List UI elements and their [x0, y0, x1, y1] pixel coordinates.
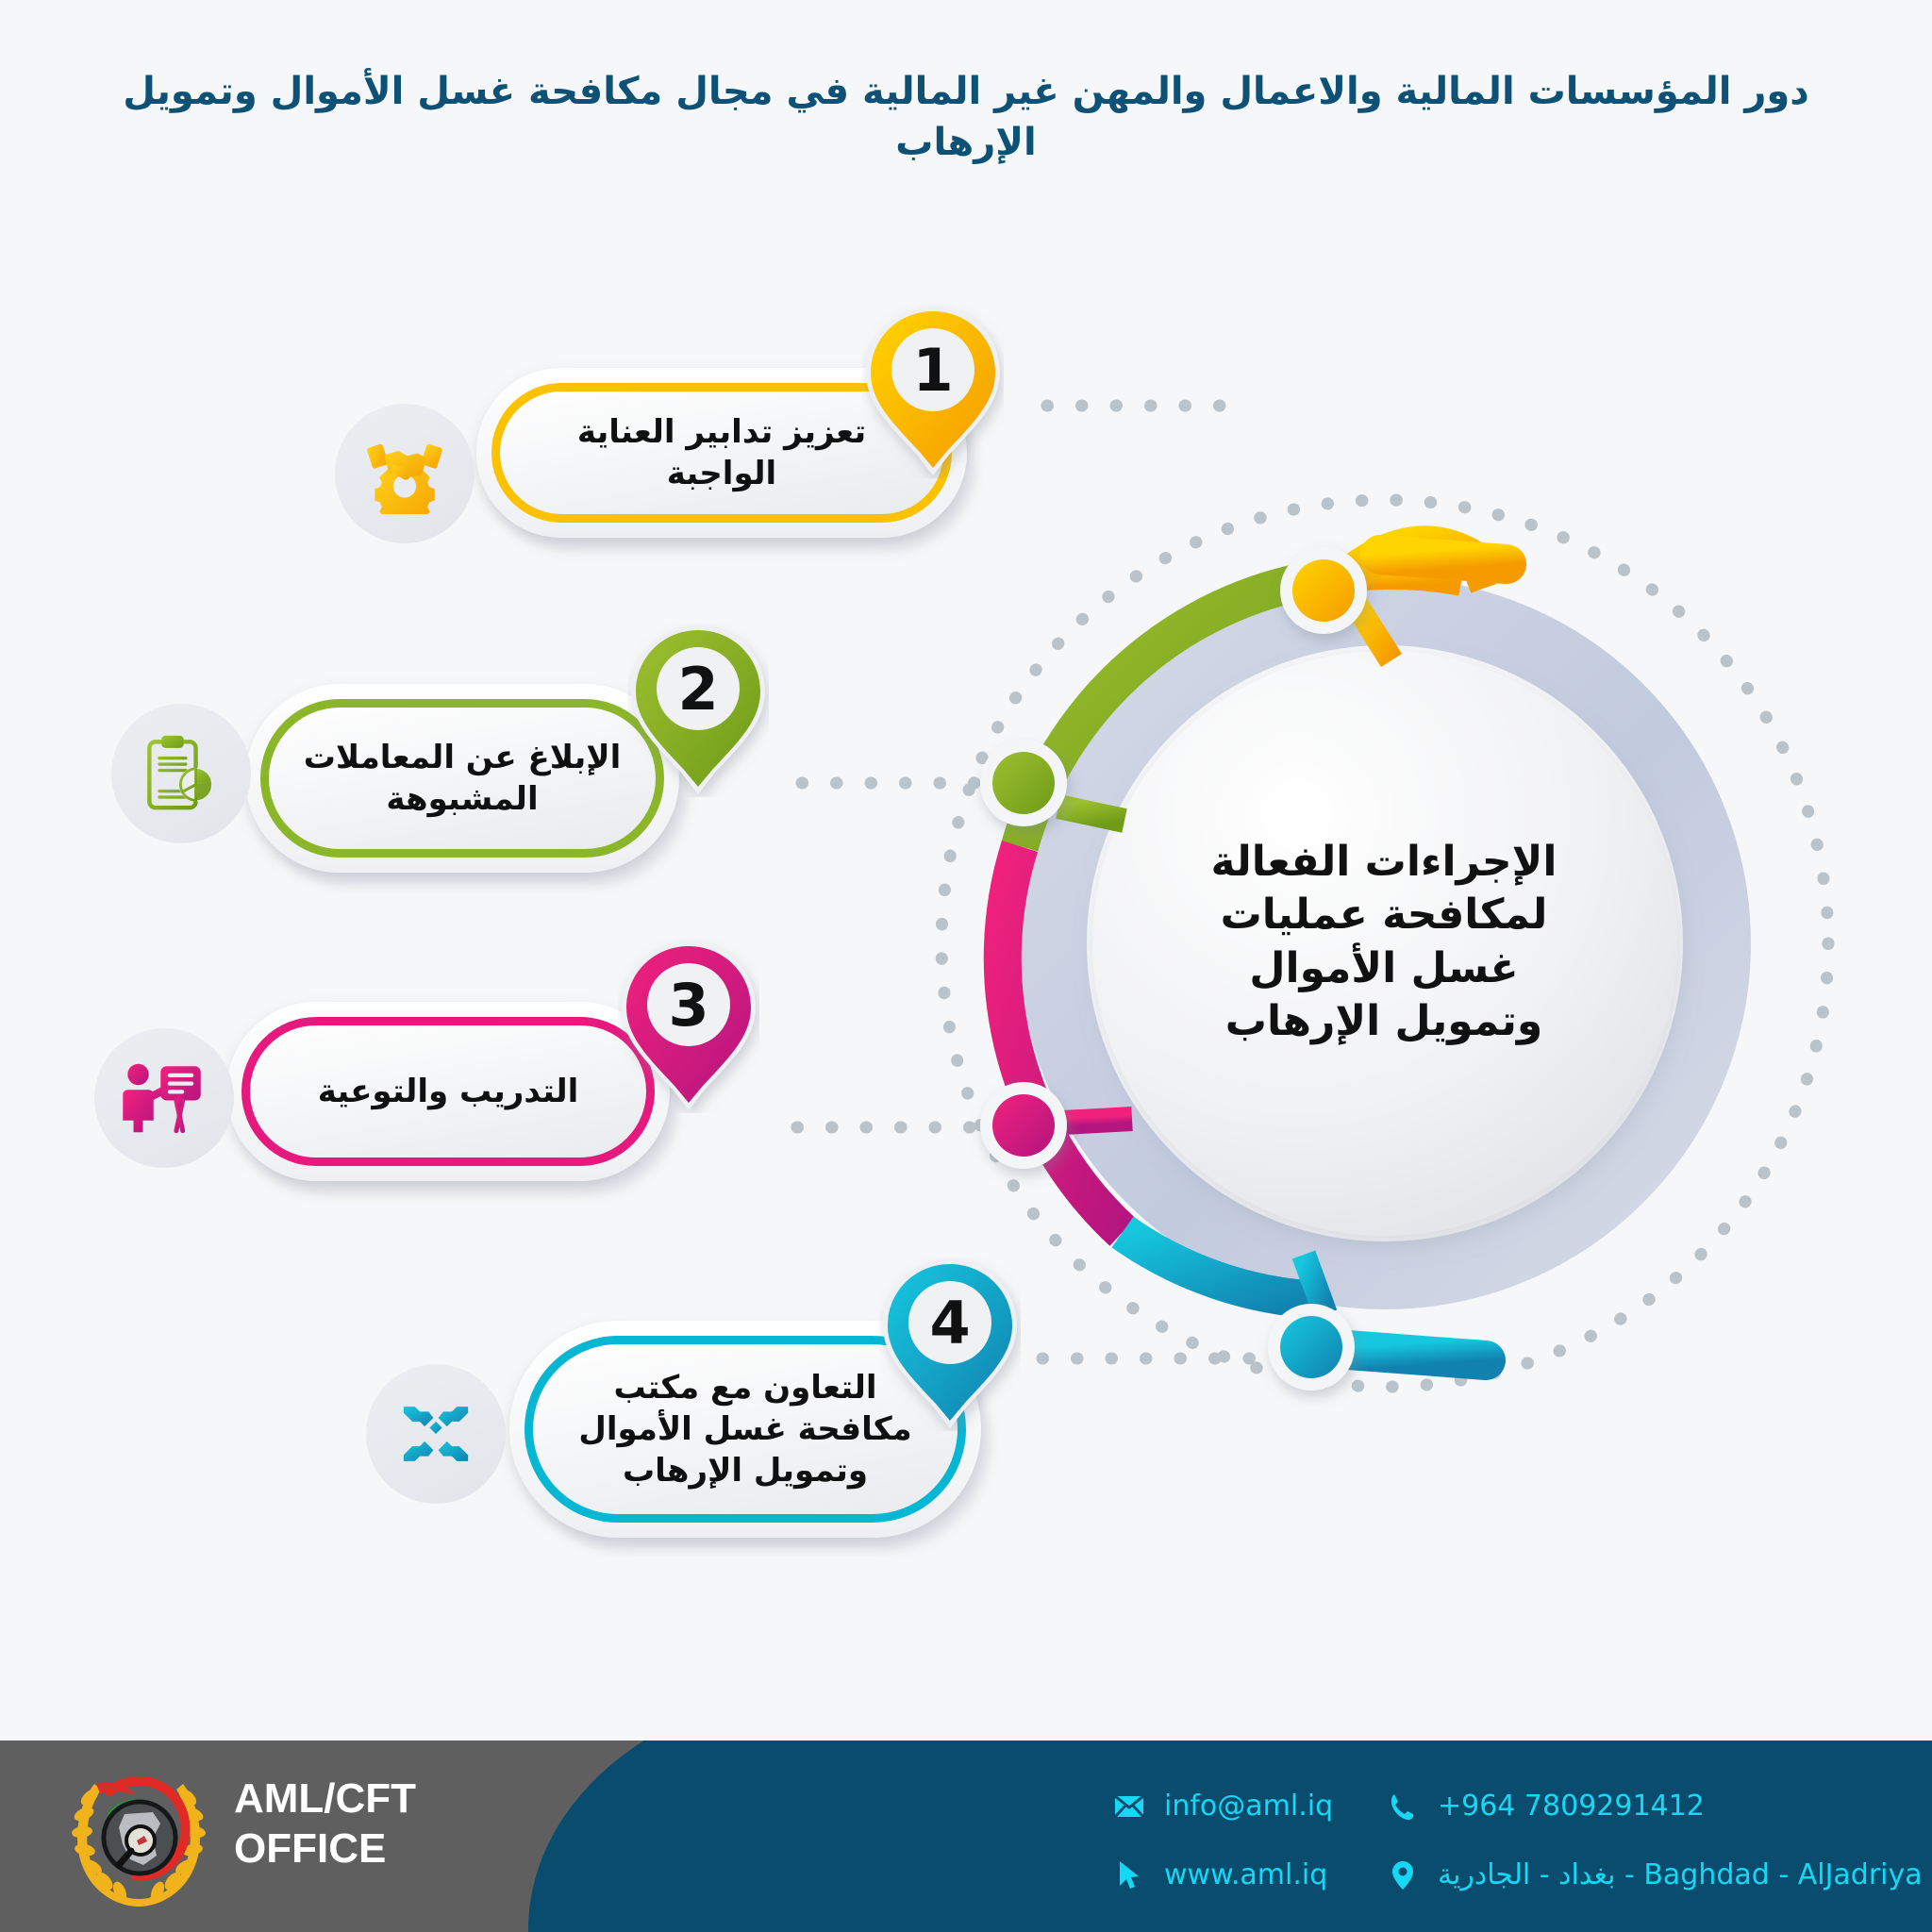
email-icon	[1113, 1790, 1145, 1823]
card-inner: الإبلاغ عن المعاملات المشبوهة	[260, 699, 664, 858]
step-badge-2-number: 2	[627, 640, 769, 738]
step-card-2-label: الإبلاغ عن المعاملات المشبوهة	[272, 737, 653, 820]
step-card-3-label: التدريب والتوعية	[286, 1071, 611, 1112]
contact-website-text: www.aml.iq	[1164, 1858, 1327, 1891]
step-badge-2[interactable]: 2	[627, 623, 769, 797]
step-icon-3	[94, 1028, 234, 1168]
contact-email[interactable]: info@aml.iq	[1113, 1790, 1333, 1823]
handshake-gear-icon	[364, 433, 445, 514]
contact-email-text: info@aml.iq	[1164, 1790, 1333, 1823]
ring-node-1	[1280, 547, 1367, 634]
step-badge-3[interactable]: 3	[618, 939, 759, 1113]
process-ring-graphic	[0, 0, 1932, 1932]
footer-right-panel	[528, 1740, 1932, 1932]
collaboration-hands-icon	[396, 1394, 475, 1474]
infographic-canvas: دور المؤسسات المالية والاعمال والمهن غير…	[0, 0, 1932, 1932]
step-icon-1	[335, 404, 475, 543]
clipboard-report-icon	[142, 732, 221, 815]
step-badge-4[interactable]: 4	[879, 1257, 1021, 1431]
contact-address[interactable]: Baghdad - AlJadriya - بغداد - الجادرية	[1387, 1858, 1923, 1891]
step-card-2[interactable]: الإبلاغ عن المعاملات المشبوهة	[245, 684, 679, 873]
location-icon	[1387, 1859, 1419, 1891]
contact-address-text: Baghdad - AlJadriya - بغداد - الجادرية	[1438, 1858, 1923, 1891]
contact-website[interactable]: www.aml.iq	[1113, 1858, 1327, 1891]
step-badge-4-number: 4	[879, 1274, 1021, 1372]
step-icon-2	[111, 704, 251, 843]
ring-node-2	[980, 740, 1067, 826]
center-headline: الإجراءات الفعالة لمكافحة عمليات غسل الأ…	[1162, 836, 1606, 1048]
ring-node-4	[1268, 1304, 1355, 1391]
footer-brand: AML/CFT OFFICE	[234, 1774, 517, 1874]
training-presenter-icon	[123, 1060, 206, 1136]
ring-node-3	[980, 1082, 1067, 1169]
cursor-icon	[1113, 1859, 1145, 1891]
aml-cft-office-logo	[58, 1757, 219, 1918]
step-badge-1-number: 1	[862, 321, 1004, 419]
step-badge-3-number: 3	[618, 956, 759, 1054]
card-inner: التدريب والتوعية	[241, 1017, 655, 1166]
contact-phone[interactable]: +964 7809291412	[1387, 1790, 1705, 1823]
step-badge-1[interactable]: 1	[862, 304, 1004, 478]
footer-bar: AML/CFT OFFICE info@aml.iq +964 78092914…	[0, 1740, 1932, 1932]
contact-phone-text: +964 7809291412	[1438, 1790, 1705, 1823]
step-icon-4	[366, 1364, 506, 1504]
phone-icon	[1387, 1790, 1419, 1823]
step-card-3[interactable]: التدريب والتوعية	[226, 1002, 670, 1181]
